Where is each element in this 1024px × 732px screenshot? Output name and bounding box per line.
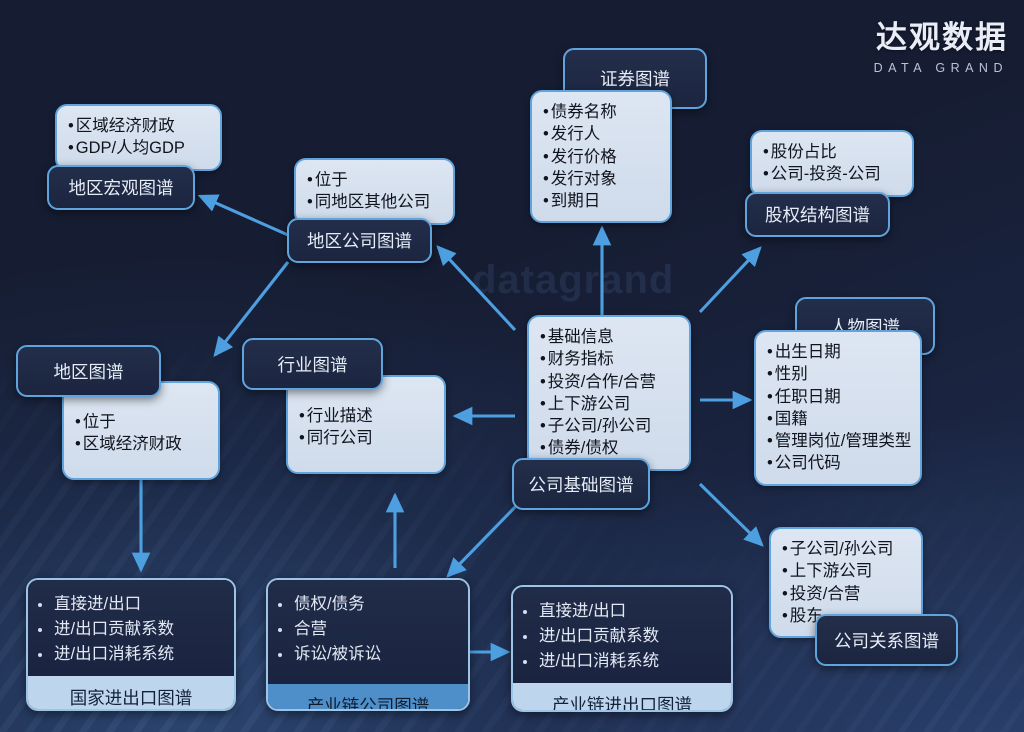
- bullet-item: 子公司/孙公司: [782, 538, 909, 560]
- node-guquan-items: 股份占比公司-投资-公司: [750, 130, 914, 197]
- node-diqu-gongsi-items: 位于同地区其他公司: [294, 158, 455, 225]
- bullet-list: 位于同地区其他公司: [307, 169, 441, 214]
- bullet-item: 财务指标: [540, 348, 677, 370]
- node-renwu-items: 出生日期性别任职日期国籍管理岗位/管理类型公司代码: [754, 330, 922, 486]
- bullet-list: 出生日期性别任职日期国籍管理岗位/管理类型公司代码: [767, 341, 908, 475]
- bullet-list: 区域经济财政GDP/人均GDP: [68, 115, 208, 160]
- bullet-item: 上下游公司: [782, 560, 909, 582]
- bullet-item: 公司代码: [767, 452, 908, 474]
- bullet-item: 债权/债务: [294, 592, 458, 617]
- node-zhengquan-items: 债券名称发行人发行价格发行对象到期日: [530, 90, 672, 223]
- bullet-item: 发行人: [543, 123, 658, 145]
- bullet-item: 到期日: [543, 190, 658, 212]
- bullet-item: 区域经济财政: [75, 433, 206, 455]
- bullet-item: 上下游公司: [540, 393, 677, 415]
- bullet-item: 债券名称: [543, 101, 658, 123]
- node-guquan-title[interactable]: 股权结构图谱: [745, 192, 890, 237]
- node-guojia-jck[interactable]: 直接进/出口进/出口贡献系数进/出口消耗系统 国家进出口图谱: [26, 578, 236, 711]
- bullet-list: 行业描述同行公司: [299, 405, 432, 450]
- bullet-item: 直接进/出口: [539, 599, 721, 624]
- bullet-item: 发行价格: [543, 146, 658, 168]
- bullet-item: 进/出口贡献系数: [539, 624, 721, 649]
- node-cyl-jck-title[interactable]: 产业链进出口图谱: [513, 683, 731, 712]
- bullet-item: 投资/合作/合营: [540, 371, 677, 393]
- node-cyl-gongsi-title[interactable]: 产业链公司图谱: [268, 684, 468, 711]
- bullet-list: 直接进/出口进/出口贡献系数进/出口消耗系统: [539, 599, 721, 673]
- bullet-item: GDP/人均GDP: [68, 137, 208, 159]
- bullet-item: 诉讼/被诉讼: [294, 642, 458, 667]
- bullet-item: 性别: [767, 363, 908, 385]
- bullet-item: 进/出口消耗系统: [54, 642, 224, 667]
- node-guojia-jck-title[interactable]: 国家进出口图谱: [28, 676, 234, 711]
- bullet-item: 进/出口消耗系统: [539, 649, 721, 674]
- bullet-item: 股份占比: [763, 141, 900, 163]
- node-hangye-title[interactable]: 行业图谱: [242, 338, 383, 390]
- bullet-item: 公司-投资-公司: [763, 163, 900, 185]
- bullet-list: 直接进/出口进/出口贡献系数进/出口消耗系统: [54, 592, 224, 666]
- brand-name-cn: 达观数据: [874, 22, 1008, 55]
- bullet-item: 任职日期: [767, 386, 908, 408]
- bullet-list: 位于区域经济财政: [75, 411, 206, 456]
- bullet-item: 发行对象: [543, 168, 658, 190]
- node-cyl-gongsi-items: 债权/债务合营诉讼/被诉讼: [268, 580, 468, 684]
- node-cyl-jck-items: 直接进/出口进/出口贡献系数进/出口消耗系统: [513, 587, 731, 683]
- node-diqu-gongsi-title[interactable]: 地区公司图谱: [287, 218, 432, 263]
- bullet-item: 基础信息: [540, 326, 677, 348]
- bullet-item: 投资/合营: [782, 583, 909, 605]
- bullet-list: 基础信息财务指标投资/合作/合营上下游公司子公司/孙公司债券/债权: [540, 326, 677, 460]
- node-gongsi-jichu-title[interactable]: 公司基础图谱: [512, 458, 650, 510]
- bullet-item: 位于: [307, 169, 441, 191]
- node-diqu-hongguan-items: 区域经济财政GDP/人均GDP: [55, 104, 222, 171]
- brand-name-en: DATA GRAND: [874, 61, 1008, 75]
- bullet-item: 行业描述: [299, 405, 432, 427]
- bullet-item: 位于: [75, 411, 206, 433]
- bullet-list: 股份占比公司-投资-公司: [763, 141, 900, 186]
- bullet-list: 债券名称发行人发行价格发行对象到期日: [543, 101, 658, 212]
- bullet-item: 同地区其他公司: [307, 191, 441, 213]
- node-diqu-title[interactable]: 地区图谱: [16, 345, 161, 397]
- node-gongsi-guanxi-title[interactable]: 公司关系图谱: [815, 614, 958, 666]
- bullet-item: 国籍: [767, 408, 908, 430]
- bullet-item: 子公司/孙公司: [540, 415, 677, 437]
- node-gongsi-jichu-items: 基础信息财务指标投资/合作/合营上下游公司子公司/孙公司债券/债权: [527, 315, 691, 471]
- bullet-item: 进/出口贡献系数: [54, 617, 224, 642]
- bullet-item: 区域经济财政: [68, 115, 208, 137]
- bullet-item: 合营: [294, 617, 458, 642]
- bullet-list: 债权/债务合营诉讼/被诉讼: [294, 592, 458, 666]
- diagram-canvas: datagrand: [0, 0, 1024, 732]
- bullet-item: 同行公司: [299, 427, 432, 449]
- bullet-item: 直接进/出口: [54, 592, 224, 617]
- node-cyl-jck[interactable]: 直接进/出口进/出口贡献系数进/出口消耗系统 产业链进出口图谱: [511, 585, 733, 712]
- bullet-item: 出生日期: [767, 341, 908, 363]
- bullet-item: 管理岗位/管理类型: [767, 430, 908, 452]
- node-guojia-jck-items: 直接进/出口进/出口贡献系数进/出口消耗系统: [28, 580, 234, 676]
- node-cyl-gongsi[interactable]: 债权/债务合营诉讼/被诉讼 产业链公司图谱: [266, 578, 470, 711]
- node-diqu-hongguan-title[interactable]: 地区宏观图谱: [47, 165, 195, 210]
- brand-logo: 达观数据 DATA GRAND: [874, 22, 1008, 75]
- bullet-item: 债券/债权: [540, 437, 677, 459]
